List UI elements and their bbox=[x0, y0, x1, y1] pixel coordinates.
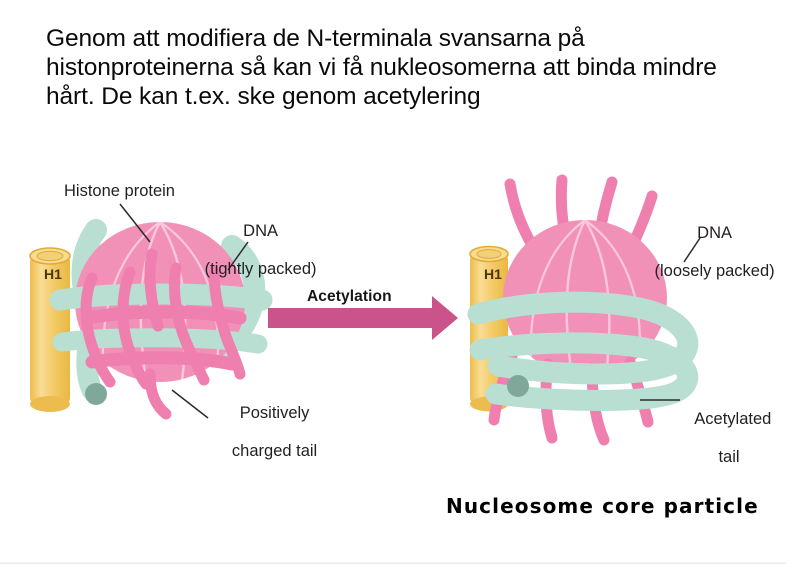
label-positively-line2: charged tail bbox=[232, 442, 317, 460]
label-dna-tightly-packed: DNA (tightly packed) bbox=[186, 203, 326, 279]
figure-caption: Nucleosome core particle bbox=[446, 494, 759, 518]
label-dna-loose-line1: DNA bbox=[697, 224, 732, 242]
label-dna-tight-line1: DNA bbox=[243, 222, 278, 240]
label-acetylated-tail: Acetylated tail bbox=[686, 391, 786, 486]
page-title: Genom att modifiera de N-terminala svans… bbox=[46, 24, 762, 111]
dna-tail-cap bbox=[85, 383, 107, 405]
label-acetylated-line1: Acetylated bbox=[694, 410, 771, 428]
label-positively-line1: Positively bbox=[240, 404, 310, 422]
label-dna-tight-line2: (tightly packed) bbox=[205, 260, 317, 278]
label-dna-loose-line2: (loosely packed) bbox=[655, 262, 775, 280]
label-positively-charged-tail: Positively charged tail bbox=[212, 385, 328, 461]
label-histone-protein: Histone protein bbox=[64, 182, 175, 201]
label-h1-left: H1 bbox=[44, 266, 62, 282]
label-acetylation-arrow: Acetylation bbox=[307, 288, 392, 306]
label-acetylated-line2: tail bbox=[686, 448, 772, 467]
nucleosome-acetylation-figure bbox=[0, 150, 786, 510]
dna-tail-cap-right bbox=[507, 375, 529, 397]
label-h1-right: H1 bbox=[484, 266, 502, 282]
figure-illustration bbox=[0, 150, 786, 510]
label-dna-loosely-packed: DNA (loosely packed) bbox=[640, 205, 780, 281]
leader-line-positively-charged-tail bbox=[172, 390, 208, 418]
